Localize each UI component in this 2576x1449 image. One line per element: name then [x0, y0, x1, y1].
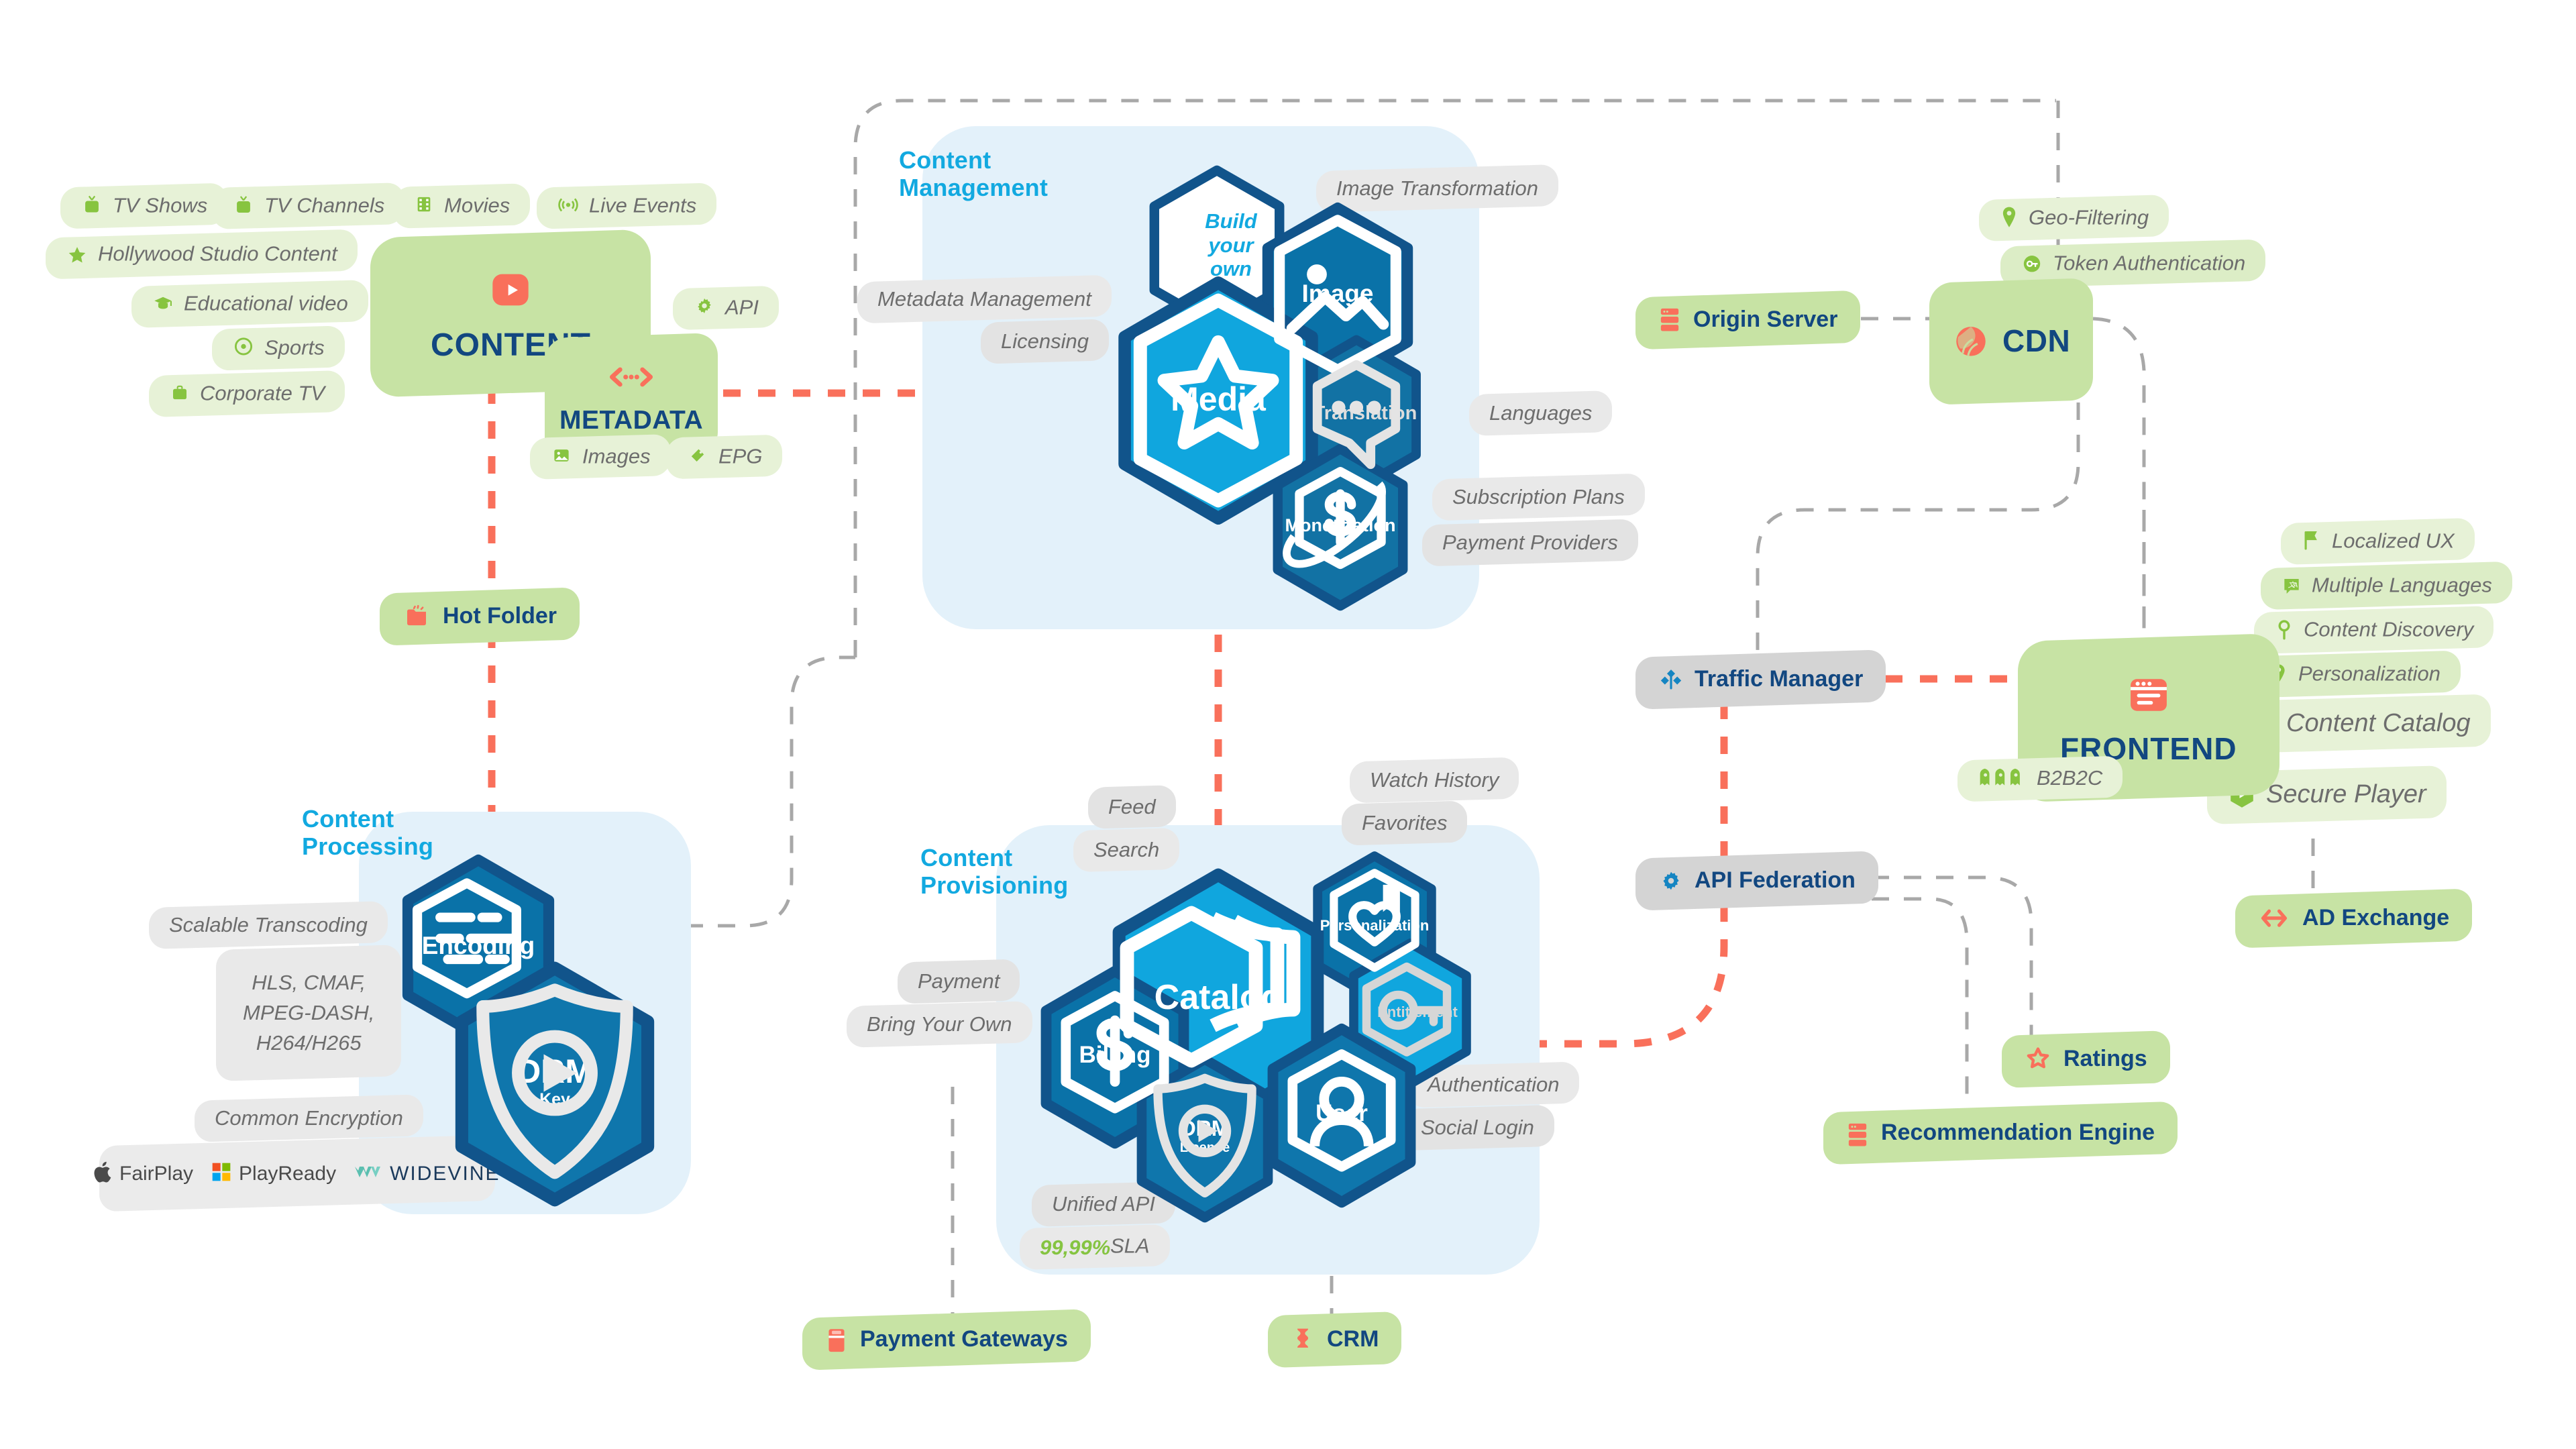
- server-icon: [1846, 1122, 1869, 1153]
- server-icon: [1658, 307, 1681, 338]
- label-payment-providers: Payment Providers: [1422, 519, 1638, 567]
- tag-icon: [686, 443, 709, 472]
- chip-tv-channels[interactable]: TV Channels: [212, 182, 405, 229]
- metadata-block-title: METADATA: [559, 406, 703, 435]
- origin-server-block[interactable]: Origin Server: [1635, 290, 1860, 350]
- label-watch-history: Watch History: [1350, 757, 1519, 803]
- translate-icon: 文A: [2281, 575, 2302, 602]
- recommendation-engine-block[interactable]: Recommendation Engine: [1823, 1102, 2178, 1165]
- label-text: Feed: [1108, 795, 1156, 819]
- label-text: Languages: [1489, 401, 1592, 425]
- chip-label: Movies: [444, 193, 510, 217]
- chip-label: Personalization: [2298, 661, 2440, 686]
- api-federation-block[interactable]: API Federation: [1635, 851, 1878, 910]
- label-licensing: Licensing: [981, 319, 1109, 364]
- sla-suffix: SLA: [1110, 1234, 1150, 1258]
- hex-drm-key[interactable]: DRM Key: [444, 959, 665, 1209]
- ratings-label: Ratings: [2063, 1046, 2147, 1072]
- crm-block[interactable]: CRM: [1268, 1311, 1401, 1368]
- chip-label: Live Events: [589, 193, 696, 217]
- hex-label: Build your own: [1177, 209, 1257, 281]
- play-video-icon: [484, 263, 537, 320]
- section-title-content-provisioning: Content Provisioning: [920, 844, 1068, 900]
- widevine-icon: [354, 1163, 383, 1185]
- label-scalable-transcoding: Scalable Transcoding: [149, 901, 388, 949]
- payment-gateways-label: Payment Gateways: [860, 1326, 1068, 1352]
- search-icon: [2274, 619, 2294, 647]
- hex-drm-licence[interactable]: DRM Licence: [1130, 1053, 1280, 1224]
- browser-window-icon: [2123, 669, 2174, 724]
- star-icon: [66, 244, 89, 272]
- chip-label: Geo-Filtering: [2029, 205, 2149, 229]
- cdn-label: CDN: [2002, 323, 2070, 359]
- chip-educational-video[interactable]: Educational video: [131, 280, 368, 328]
- recommendation-engine-label: Recommendation Engine: [1881, 1120, 2155, 1146]
- chip-label: Corporate TV: [200, 381, 325, 405]
- label-subscription-plans: Subscription Plans: [1432, 474, 1645, 521]
- three-users-icon: [1978, 767, 2027, 794]
- chip-api[interactable]: API: [673, 286, 779, 330]
- label-text: Search: [1093, 838, 1159, 862]
- chip-tv-shows[interactable]: TV Shows: [60, 183, 227, 229]
- chip-label: Content Discovery: [2304, 617, 2473, 641]
- chip-label: B2B2C: [2037, 766, 2102, 790]
- label-sla: 99,99% SLA: [1020, 1224, 1170, 1270]
- label-favorites: Favorites: [1342, 800, 1467, 845]
- hot-folder-icon: [402, 601, 431, 635]
- ad-exchange-block[interactable]: AD Exchange: [2235, 888, 2472, 948]
- cdn-block[interactable]: CDN: [1929, 278, 2093, 405]
- origin-server-label: Origin Server: [1693, 307, 1837, 333]
- label-social-login: Social Login: [1401, 1105, 1554, 1150]
- section-title-content-processing: Content Processing: [302, 805, 433, 861]
- gear-icon: [1658, 868, 1684, 900]
- label-text: Bring Your Own: [867, 1012, 1012, 1036]
- briefcase-icon: [169, 382, 191, 409]
- chip-label: Token Authentication: [2053, 251, 2245, 275]
- label-text: Licensing: [1001, 329, 1089, 354]
- chip-label: EPG: [718, 444, 762, 468]
- chip-localized-ux[interactable]: Localized UX: [2281, 518, 2475, 565]
- chip-personalization[interactable]: Personalization: [2249, 651, 2461, 698]
- graduation-cap-icon: [152, 292, 174, 321]
- fairplay-label: FairPlay: [119, 1162, 193, 1185]
- flag-icon: [2301, 529, 2322, 557]
- card-icon: [825, 1327, 848, 1360]
- chip-label: API: [725, 295, 759, 319]
- chip-b2b2c[interactable]: B2B2C: [1957, 756, 2123, 802]
- hex-monetization[interactable]: Monetization: [1266, 443, 1415, 612]
- broadcast-icon: [557, 193, 580, 221]
- tv-icon: [232, 194, 255, 222]
- traffic-manager-label: Traffic Manager: [1695, 666, 1863, 692]
- chip-label: Images: [582, 444, 651, 468]
- label-bring-your-own: Bring Your Own: [847, 1001, 1032, 1048]
- chip-geo-filtering[interactable]: Geo-Filtering: [1979, 195, 2169, 241]
- hot-folder-label: Hot Folder: [443, 603, 557, 629]
- chip-label: Educational video: [184, 291, 348, 315]
- code-brackets-icon: [606, 358, 656, 399]
- section-title-content-management: Content Management: [899, 146, 1048, 202]
- tv-icon: [80, 193, 103, 221]
- ratings-block[interactable]: Ratings: [2002, 1030, 2170, 1088]
- drm-logos-chip: FairPlay PlayReady WIDEVINE: [99, 1135, 495, 1212]
- traffic-manager-block[interactable]: Traffic Manager: [1635, 649, 1886, 710]
- chip-epg[interactable]: EPG: [666, 435, 782, 480]
- hot-folder-block[interactable]: Hot Folder: [380, 587, 580, 645]
- star-outline-icon: [2025, 1044, 2051, 1077]
- chip-sports[interactable]: Sports: [212, 325, 345, 371]
- chip-multiple-languages[interactable]: 文A Multiple Languages: [2261, 561, 2512, 610]
- label-text: Subscription Plans: [1452, 485, 1625, 509]
- chip-label: Localized UX: [2332, 529, 2455, 553]
- api-federation-label: API Federation: [1695, 867, 1856, 894]
- chip-images[interactable]: Images: [530, 434, 671, 480]
- label-text: Favorites: [1362, 811, 1447, 835]
- film-strip-icon: [413, 194, 435, 221]
- gear-icon: [693, 294, 716, 323]
- chip-movies[interactable]: Movies: [393, 183, 530, 229]
- label-text: Scalable Transcoding: [169, 913, 368, 937]
- label-feed: Feed: [1088, 785, 1176, 829]
- label-text: Common Encryption: [215, 1106, 403, 1130]
- label-languages: Languages: [1469, 390, 1612, 436]
- target-icon: [232, 335, 255, 363]
- chip-hollywood-studio-content[interactable]: Hollywood Studio Content: [46, 229, 358, 280]
- payment-gateways-block[interactable]: Payment Gateways: [802, 1309, 1091, 1371]
- ad-exchange-label: AD Exchange: [2302, 904, 2449, 930]
- hex-user[interactable]: User: [1260, 1022, 1424, 1209]
- chip-content-discovery[interactable]: Content Discovery: [2254, 606, 2493, 654]
- label-text: Image Transformation: [1336, 176, 1538, 201]
- label-common-encryption: Common Encryption: [195, 1094, 423, 1142]
- microsoft-icon: [211, 1161, 232, 1186]
- chip-corporate-tv[interactable]: Corporate TV: [149, 370, 345, 417]
- chip-live-events[interactable]: Live Events: [537, 182, 716, 229]
- map-pin-icon: [1999, 206, 2019, 234]
- svg-text:A: A: [2293, 582, 2298, 590]
- traffic-manager-icon: [1658, 667, 1684, 698]
- sla-value: 99,99%: [1040, 1236, 1110, 1260]
- label-text: HLS, CMAF, MPEG-DASH, H264/H265: [243, 968, 374, 1059]
- cdn-globe-icon: [1951, 321, 1990, 364]
- chip-label: Hollywood Studio Content: [98, 241, 337, 266]
- chip-label: TV Channels: [264, 193, 384, 217]
- label-text: Payment Providers: [1442, 531, 1618, 555]
- image-icon: [550, 444, 573, 472]
- label-text: Payment: [918, 969, 1000, 994]
- label-codecs: HLS, CMAF, MPEG-DASH, H264/H265: [216, 945, 401, 1081]
- chip-label: Sports: [264, 335, 325, 360]
- key-circle-icon: [2021, 252, 2043, 280]
- label-text: Watch History: [1370, 768, 1499, 792]
- label-text: Social Login: [1421, 1116, 1534, 1140]
- chip-label: Multiple Languages: [2312, 573, 2492, 597]
- label-payment: Payment: [898, 959, 1020, 1004]
- chip-label: Content Catalog: [2286, 709, 2471, 738]
- apple-icon: [94, 1161, 114, 1187]
- chip-label: TV Shows: [113, 193, 207, 217]
- playready-label: PlayReady: [239, 1162, 336, 1185]
- exchange-arrows-icon: [2258, 906, 2290, 935]
- label-text: Metadata Management: [877, 287, 1091, 311]
- crm-icon: [1291, 1325, 1315, 1356]
- label-metadata-management: Metadata Management: [857, 275, 1112, 324]
- crm-label: CRM: [1327, 1326, 1379, 1352]
- chip-label: Secure Player: [2266, 780, 2426, 809]
